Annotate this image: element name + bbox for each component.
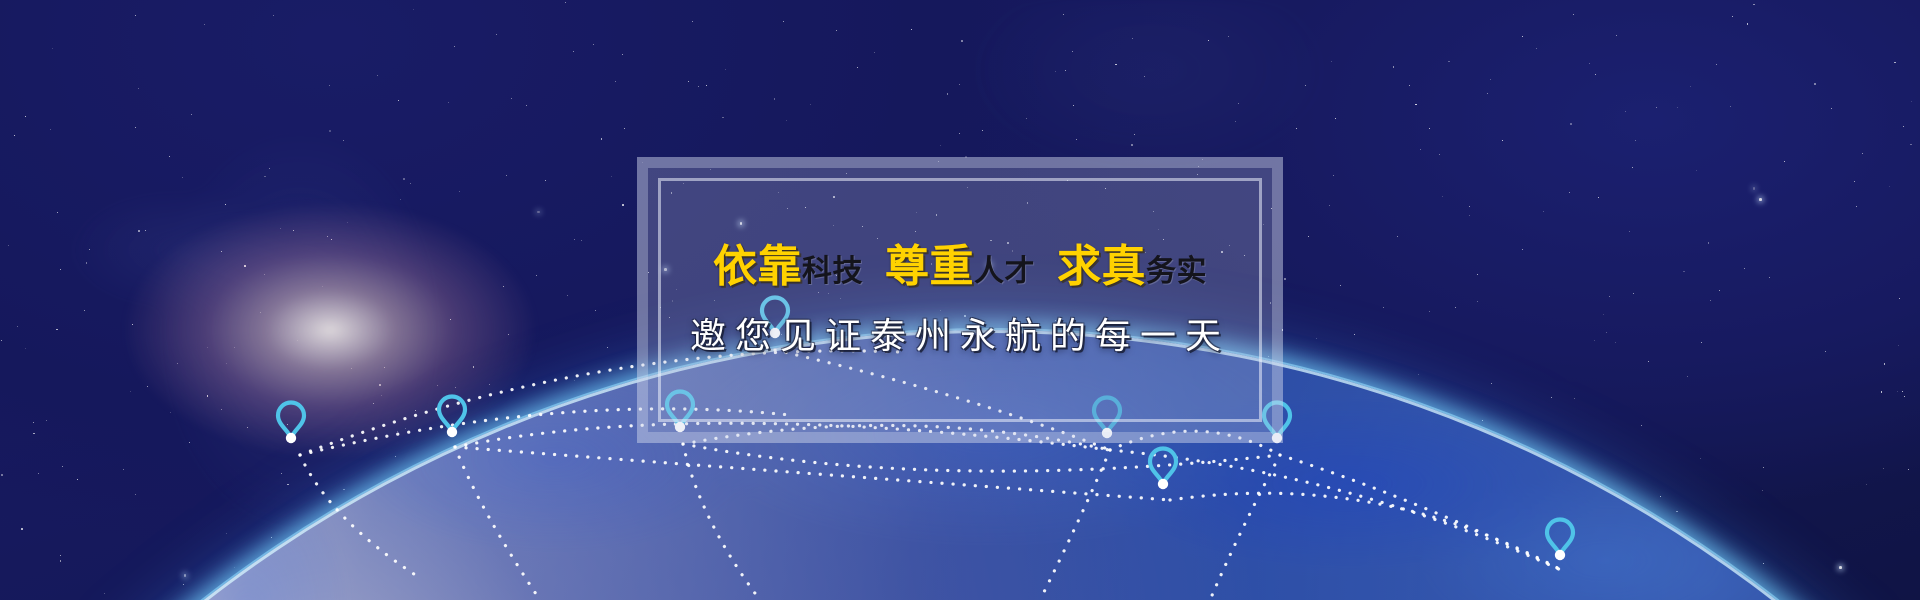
- headline-segment-2: 科技: [802, 254, 863, 289]
- location-pin-6-icon[interactable]: [1148, 447, 1178, 489]
- headline-segment-6: 务实: [1146, 254, 1207, 289]
- slogan-panel: 依靠科技尊重人才求真务实 邀您见证泰州永航的每一天: [637, 157, 1283, 443]
- headline-segment-4: 人才: [974, 254, 1035, 289]
- location-pin-1-icon[interactable]: [276, 401, 306, 443]
- location-pin-8-icon[interactable]: [1545, 518, 1575, 560]
- headline-segment-1: 依靠: [713, 241, 802, 292]
- headline-segment-3: 尊重: [885, 241, 974, 292]
- headline-segment-5: 求真: [1057, 241, 1146, 292]
- hero-banner: 依靠科技尊重人才求真务实 邀您见证泰州永航的每一天: [0, 0, 1920, 600]
- subline: 邀您见证泰州永航的每一天: [690, 319, 1230, 355]
- headline: 依靠科技尊重人才求真务实: [713, 245, 1207, 289]
- location-pin-2-icon[interactable]: [437, 395, 467, 437]
